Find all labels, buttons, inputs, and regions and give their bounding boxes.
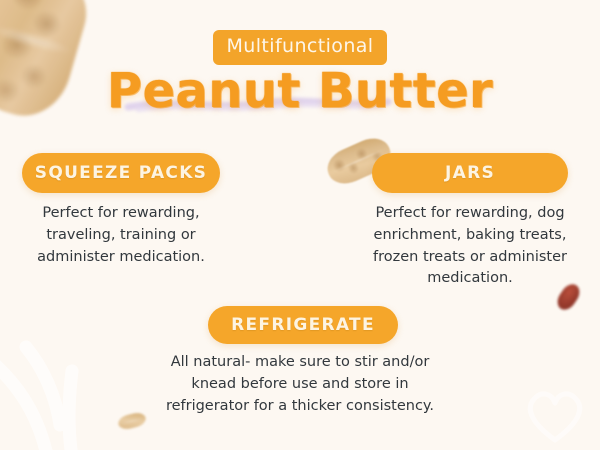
paw-swoosh-bottom-left-icon xyxy=(0,319,140,450)
section-pill-squeeze-packs[interactable]: SQUEEZE PACKS xyxy=(22,153,220,193)
section-pill-jars[interactable]: JARS xyxy=(372,153,568,193)
heart-outline-bottom-right-icon xyxy=(524,386,586,444)
eyebrow-badge: Multifunctional xyxy=(213,30,388,65)
section-body-jars: Perfect for rewarding, dog enrichment, b… xyxy=(358,203,582,290)
section-pill-refrigerate[interactable]: REFRIGERATE xyxy=(208,306,398,344)
section-pill-label: SQUEEZE PACKS xyxy=(35,165,207,182)
section-pill-label: JARS xyxy=(445,165,495,182)
poster-header: Multifunctional Peanut Butter xyxy=(0,0,600,117)
section-pill-label: REFRIGERATE xyxy=(231,317,375,334)
section-body-squeeze-packs: Perfect for rewarding, traveling, traini… xyxy=(12,203,230,268)
peanut-shell-bottom-icon xyxy=(117,411,148,431)
poster-canvas: Multifunctional Peanut Butter SQUEEZE PA… xyxy=(0,0,600,450)
page-title: Peanut Butter xyxy=(0,67,600,117)
section-body-refrigerate: All natural- make sure to stir and/or kn… xyxy=(155,352,445,417)
